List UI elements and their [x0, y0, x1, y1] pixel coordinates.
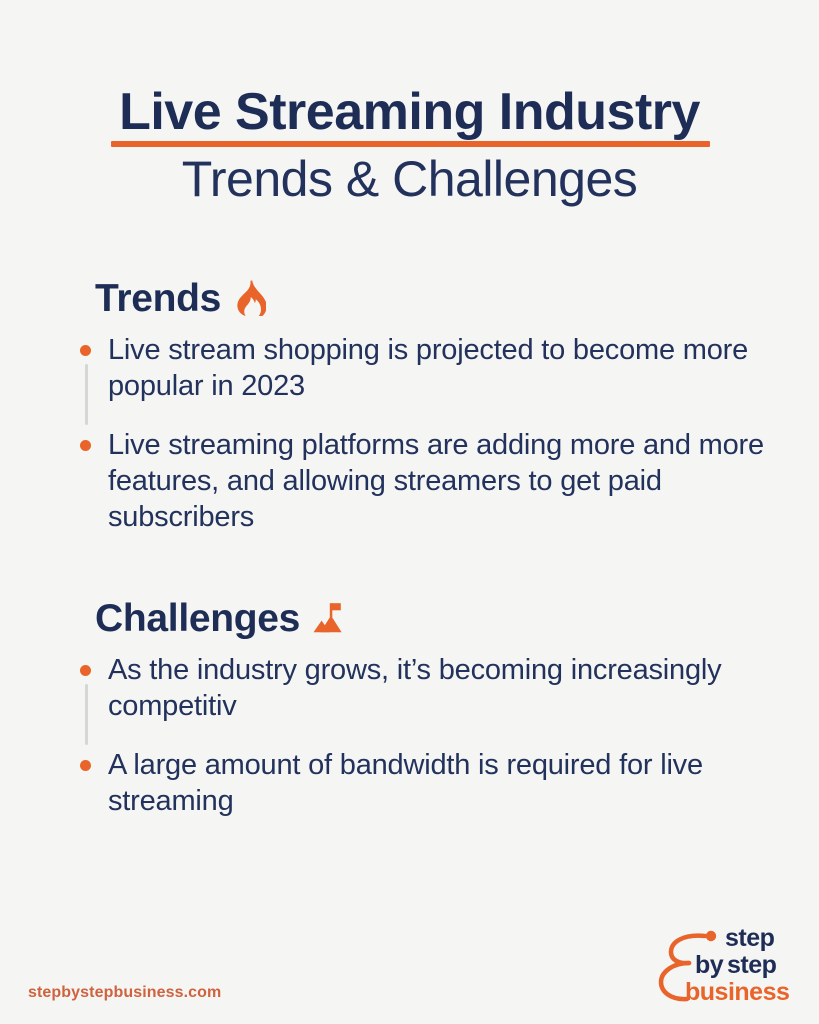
bullet-dot-icon [80, 440, 91, 451]
brand-logo: step by step business [653, 920, 793, 1006]
bullet-dot-icon [80, 760, 91, 771]
page-subtitle: Trends & Challenges [0, 152, 819, 207]
list-item: As the industry grows, it’s becoming inc… [70, 652, 770, 725]
title-underline-rule [111, 141, 710, 147]
list-item: Live stream shopping is projected to bec… [70, 332, 770, 405]
bullet-connector-line [85, 364, 88, 425]
page-title: Live Streaming Industry [117, 84, 702, 140]
bullet-text: A large amount of bandwidth is required … [108, 747, 770, 820]
svg-text:by: by [695, 951, 724, 979]
bullet-connector-line [85, 684, 88, 745]
footer-website-url: stepbystepbusiness.com [28, 984, 221, 1002]
bullet-text: As the industry grows, it’s becoming inc… [108, 652, 770, 725]
list-item: A large amount of bandwidth is required … [70, 747, 770, 820]
section-challenges-title: Challenges [95, 599, 300, 638]
title-block: Live Streaming Industry [117, 84, 702, 140]
section-challenges-header: Challenges [95, 598, 770, 638]
svg-text:step: step [727, 951, 777, 979]
infographic-page: Live Streaming Industry Trends & Challen… [0, 0, 819, 1024]
fire-icon [231, 278, 269, 318]
section-challenges: Challenges As the industry grows, it’s b… [70, 598, 770, 819]
mountain-flag-icon [310, 598, 348, 638]
list-item: Live streaming platforms are adding more… [70, 427, 770, 536]
bullet-dot-icon [80, 345, 91, 356]
section-trends-title: Trends [95, 279, 221, 318]
header: Live Streaming Industry Trends & Challen… [0, 84, 819, 207]
bullet-dot-icon [80, 665, 91, 676]
challenges-bullet-list: As the industry grows, it’s becoming inc… [70, 652, 770, 819]
bullet-text: Live streaming platforms are adding more… [108, 427, 770, 536]
section-trends-header: Trends [95, 278, 770, 318]
svg-text:step: step [725, 924, 775, 952]
svg-text:business: business [685, 978, 789, 1006]
bullet-text: Live stream shopping is projected to bec… [108, 332, 770, 405]
trends-bullet-list: Live stream shopping is projected to bec… [70, 332, 770, 535]
section-trends: Trends Live stream shopping is projected… [70, 278, 770, 535]
